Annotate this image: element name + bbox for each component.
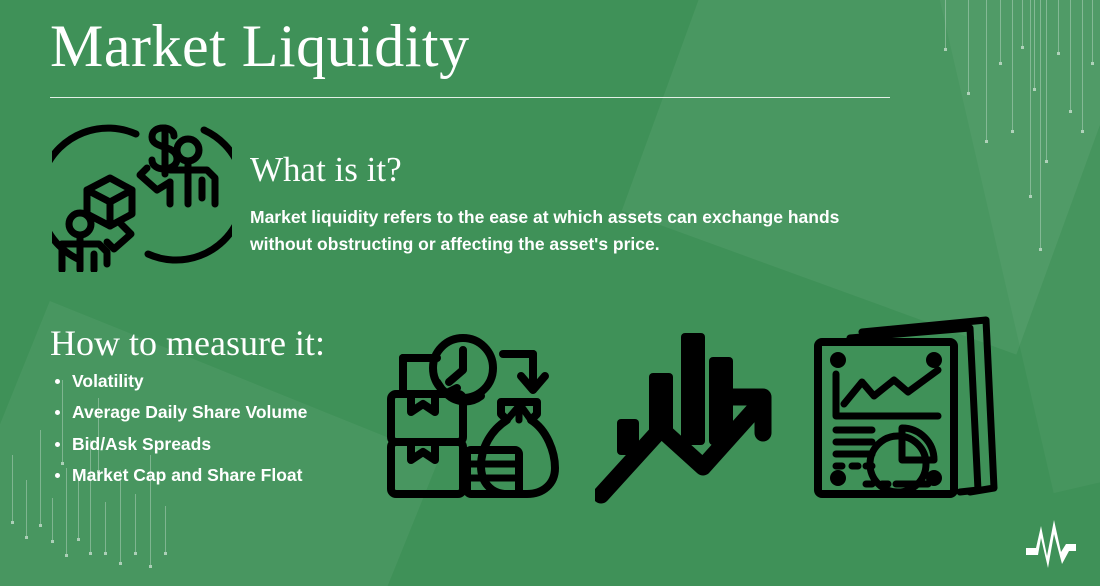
infographic-canvas: Market Liquidity [0, 0, 1100, 586]
how-to-measure-list: Volatility Average Daily Share Volume Bi… [50, 372, 307, 497]
what-is-it-heading: What is it? [250, 150, 402, 190]
boxes-clock-money-bag-icon [385, 330, 560, 505]
background-tick-line [1034, 0, 1035, 88]
list-item: Average Daily Share Volume [50, 403, 307, 422]
background-tick-line [12, 455, 13, 521]
list-item: Market Cap and Share Float [50, 466, 307, 485]
background-tick-line [1030, 0, 1031, 195]
list-item: Volatility [50, 372, 307, 391]
background-tick-line [1040, 0, 1041, 248]
background-tick-line [1046, 0, 1047, 160]
background-tick-line [1012, 0, 1013, 130]
background-tick-line [1058, 0, 1059, 52]
background-tick-line [105, 502, 106, 552]
background-tick-line [1022, 0, 1023, 46]
financial-reports-charts-icon [810, 312, 1000, 504]
title-divider [50, 97, 890, 98]
background-tick-line [1000, 0, 1001, 62]
page-title: Market Liquidity [50, 12, 470, 81]
bar-chart-trend-arrow-icon [595, 325, 780, 505]
background-wedge-top-right [622, 0, 1100, 355]
what-is-it-body: Market liquidity refers to the ease at w… [250, 204, 850, 257]
background-tick-line [945, 0, 946, 48]
exchange-people-dollar-box-icon [52, 112, 232, 272]
marketbeat-pulse-m-logo [1020, 512, 1082, 574]
background-tick-line [1092, 0, 1093, 62]
list-item: Bid/Ask Spreads [50, 435, 307, 454]
background-tick-line [986, 0, 987, 140]
background-tick-line [1070, 0, 1071, 110]
background-tick-line [135, 494, 136, 552]
background-tick-line [26, 480, 27, 536]
how-to-measure-heading: How to measure it: [50, 322, 325, 364]
background-tick-line [40, 430, 41, 524]
background-tick-line [968, 0, 969, 92]
background-tick-line [52, 498, 53, 540]
background-tick-line [1082, 0, 1083, 130]
background-tick-line [165, 506, 166, 552]
